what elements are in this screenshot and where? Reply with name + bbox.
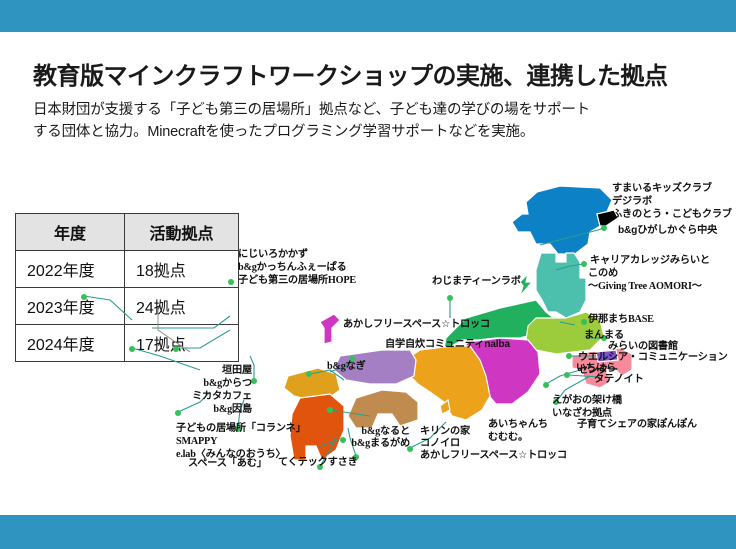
label-nijiiro-group: にじいろかかず b&gかっちんふぇーぱる 子ども第三の居場所HOPE <box>238 248 356 287</box>
label-kosodate-share: 子育てシェアの家ぽんぽん <box>577 418 697 431</box>
label-koranne-group: 子どもの居場所「コランネ」 SMAPPY e.lab〈みんなのおうち〉 <box>176 422 306 461</box>
label-career-college: キャリアカレッジみらいと <box>590 254 710 267</box>
map-dot <box>566 353 572 359</box>
label-aichanchi: あいちゃんち むむむ。 <box>488 418 548 444</box>
map-dot <box>228 279 234 285</box>
map-dot <box>129 346 135 352</box>
japan-map-container: すまいるキッズクラブ デジラボ ふきのとう・こどもクラブ b&gひがしかぐら中央… <box>0 170 736 500</box>
label-konome: このめ 〜Giving Tree AOMORI〜 <box>588 267 702 293</box>
label-higashikagura: b&gひがしかぐら中央 <box>618 224 717 237</box>
label-bg-nagi: b&gなぎ <box>327 360 366 373</box>
label-konoiro: コノイロ <box>420 437 460 450</box>
leader-line-akashi <box>152 316 230 328</box>
map-dot <box>306 371 312 377</box>
map-dot <box>564 372 570 378</box>
map-dot <box>81 294 87 300</box>
map-dot <box>601 225 607 231</box>
map-dot <box>173 346 179 352</box>
region-shikoku <box>348 390 418 428</box>
label-ina-machi-base: 伊那まちBASE <box>588 313 654 326</box>
label-wajima: わじまティーンラボ <box>432 275 521 288</box>
label-bg-marugame: b&gまるがめ <box>330 437 410 450</box>
label-akashi-free-space-2: あかしフリースペース☆トロッコ <box>420 449 567 462</box>
label-akashi-free-space-1: あかしフリースペース☆トロッコ <box>343 318 490 331</box>
label-jigaku-jisui: 自学自炊コミュニティnalba <box>385 338 510 351</box>
map-dot <box>581 261 587 267</box>
label-kakitaya-group: 垣田屋 b&gからつ ミカタカフェ b&g因島 <box>126 364 252 416</box>
page-title: 教育版マインクラフトワークショップの実施、連携した拠点 <box>33 56 668 91</box>
label-kirin-house: キリンの家 <box>420 425 470 438</box>
label-egao-group: えがおの架け橋 いなざわ拠点 <box>552 394 622 420</box>
region-okinawa <box>320 314 340 344</box>
region-lightning <box>520 274 532 296</box>
label-hokkaido-group: すまいるキッズクラブ デジラボ ふきのとう・こどもクラブ <box>612 182 732 221</box>
map-dot <box>327 407 333 413</box>
region-awaji <box>440 400 450 414</box>
label-tatenoito: タテノイト <box>594 373 644 386</box>
top-accent-bar <box>0 0 736 32</box>
bottom-accent-bar <box>0 515 736 549</box>
map-dot <box>447 295 453 301</box>
page-subtitle: 日本財団が支援する「子ども第三の居場所」拠点など、子ども達の学びの場をサポート … <box>33 99 590 144</box>
map-dot <box>543 382 549 388</box>
map-dot <box>581 319 587 325</box>
region-hokkaido <box>512 186 612 254</box>
